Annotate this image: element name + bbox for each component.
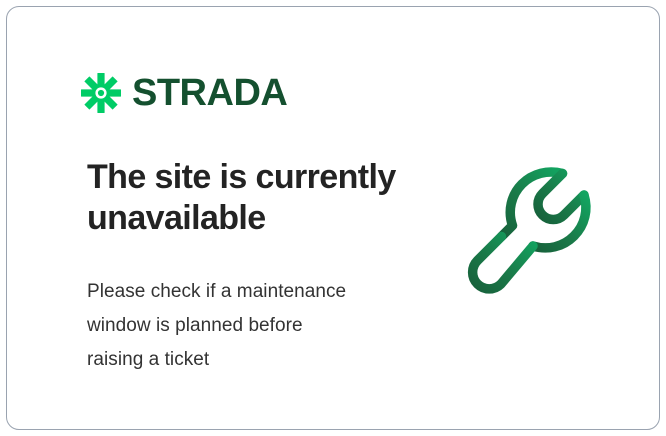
page-title: The site is currently unavailable: [87, 157, 417, 240]
strada-asterisk-icon: [81, 73, 121, 113]
description-line: Please check if a maintenance: [87, 275, 407, 309]
status-card: STRADA The site is currently unavailable…: [6, 6, 660, 430]
brand-lockup: STRADA: [81, 73, 287, 113]
wrench-icon: [462, 159, 614, 311]
status-description: Please check if a maintenance window is …: [87, 275, 407, 376]
brand-wordmark: STRADA: [132, 74, 287, 112]
page-background: STRADA The site is currently unavailable…: [0, 0, 666, 436]
description-line: window is planned before: [87, 309, 407, 343]
description-line: raising a ticket: [87, 343, 407, 377]
